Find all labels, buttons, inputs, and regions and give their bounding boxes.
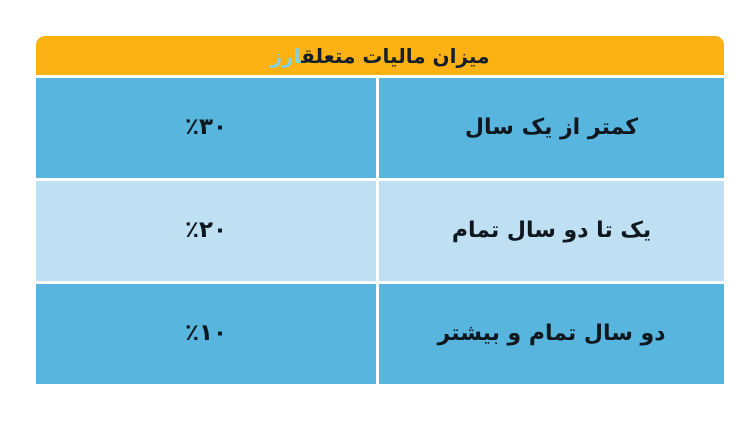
table-cell-value: ٪۲۰ [36,181,376,281]
table-cell-value: ٪۱۰ [36,284,376,384]
holding-period-label: کمتر از یک سال [465,115,638,141]
screenshot-canvas: میزان مالیات متعلقارز کمتر از یک سال ٪۳۰… [0,0,750,430]
table-title-main: میزان مالیات متعلق [301,44,489,68]
table-row: یک تا دو سال تمام ٪۲۰ [36,181,724,281]
holding-period-label: یک تا دو سال تمام [452,218,651,244]
table-cell-label: دو سال تمام و بیشتر [379,284,724,384]
table-row: دو سال تمام و بیشتر ٪۱۰ [36,284,724,384]
tax-rate-value: ٪۳۰ [185,114,227,142]
holding-period-label: دو سال تمام و بیشتر [438,321,666,347]
tax-rate-value: ٪۲۰ [185,217,227,245]
table-title: میزان مالیات متعلقارز [271,46,490,66]
table-cell-label: یک تا دو سال تمام [379,181,724,281]
table-title-accent: ارز [271,44,302,68]
tax-rate-table: میزان مالیات متعلقارز کمتر از یک سال ٪۳۰… [36,36,724,384]
table-row: کمتر از یک سال ٪۳۰ [36,78,724,178]
table-cell-value: ٪۳۰ [36,78,376,178]
table-body: کمتر از یک سال ٪۳۰ یک تا دو سال تمام ٪۲۰… [36,78,724,384]
table-cell-label: کمتر از یک سال [379,78,724,178]
tax-rate-value: ٪۱۰ [185,320,227,348]
table-header-bar: میزان مالیات متعلقارز [36,36,724,75]
